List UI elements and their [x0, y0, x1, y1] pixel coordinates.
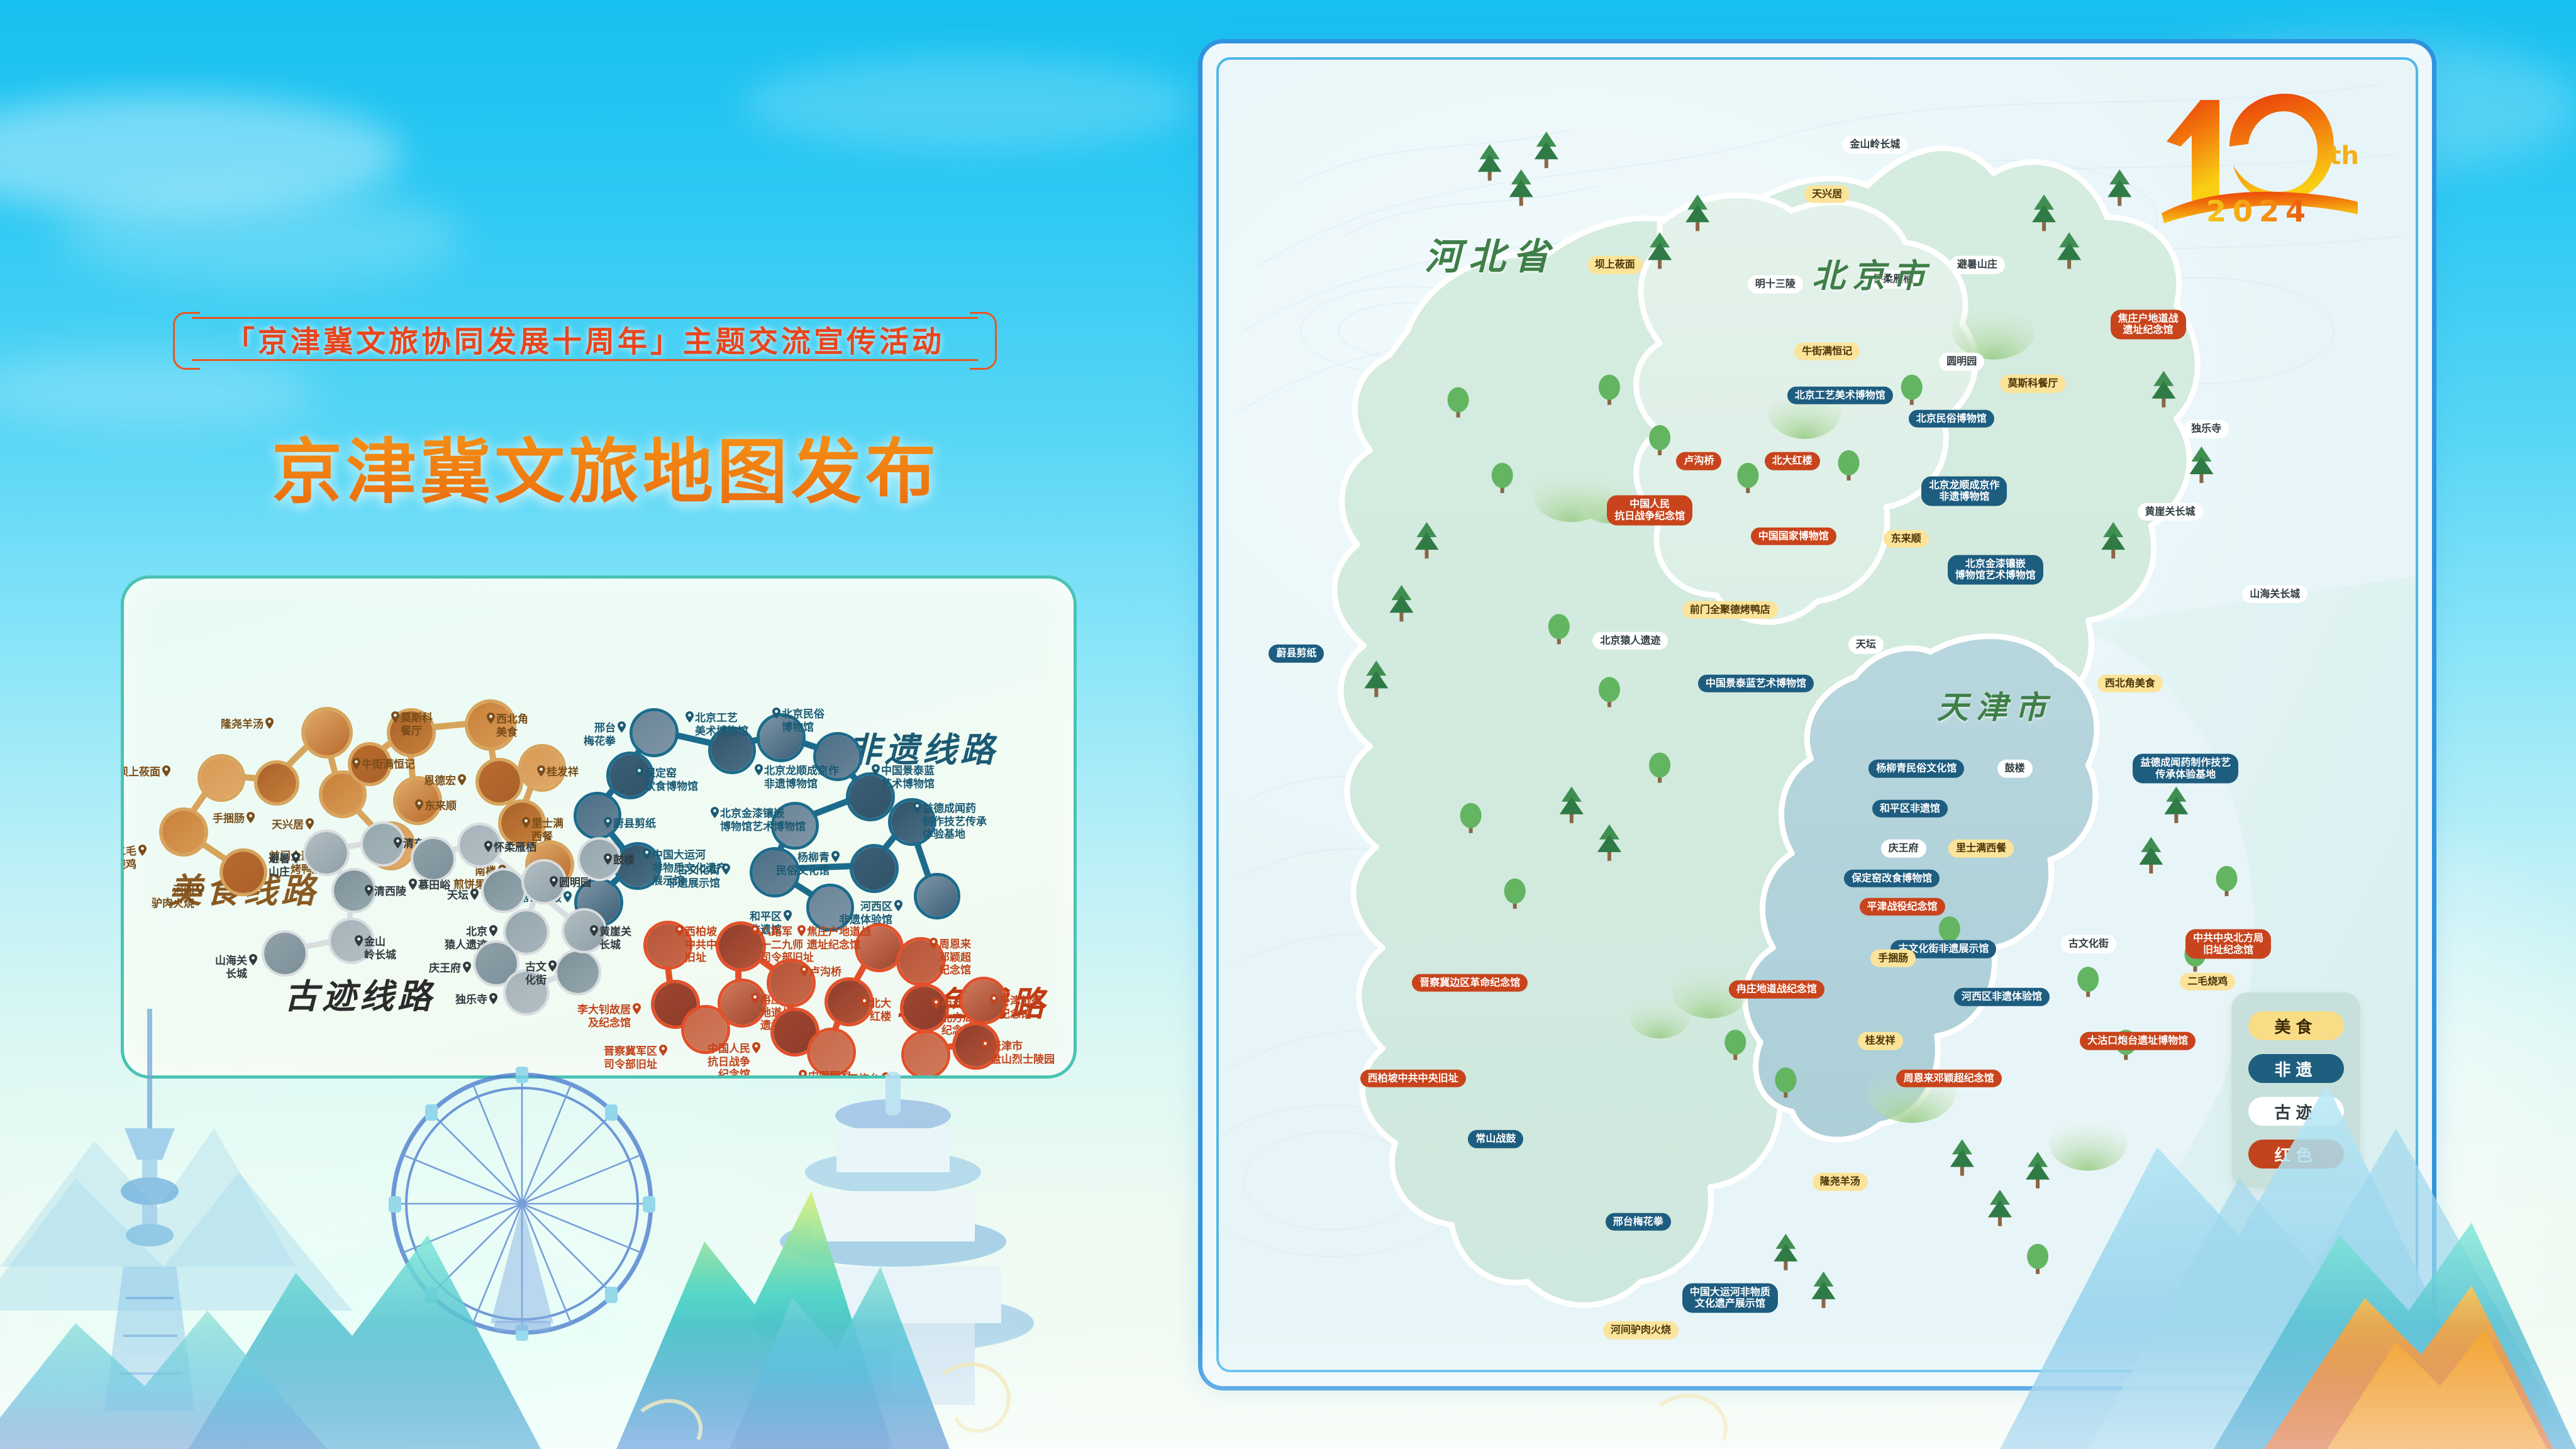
map-poi-label[interactable]: 北大红楼 [1765, 452, 1820, 470]
map-pin-icon [784, 910, 792, 921]
route-node-label: 圆明园 [559, 877, 591, 890]
map-poi-label[interactable]: 中国国家博物馆 [1751, 527, 1836, 545]
round-tree-icon [2216, 866, 2237, 896]
route-node-label: 独乐寺 [455, 994, 487, 1007]
map-poi-label[interactable]: 中国景泰蓝艺术博物馆 [1698, 674, 1814, 692]
map-pin-icon [537, 765, 545, 777]
map-region-name: 河北省 [1424, 227, 1557, 280]
route-node-food[interactable] [219, 848, 267, 896]
map-pin-icon [981, 1040, 989, 1051]
map-poi-label[interactable]: 焦庄户地道战 遗址纪念馆 [2111, 309, 2186, 339]
route-node-label: 邢台 梅花拳 [584, 722, 616, 748]
map-poi-label[interactable]: 大沽口炮台遗址博物馆 [2080, 1032, 2196, 1050]
route-node-red[interactable] [901, 1030, 950, 1079]
map-poi-label[interactable]: 坝上莜面 [1587, 256, 1643, 274]
map-pin-icon [394, 837, 402, 848]
round-tree-icon [2027, 1244, 2048, 1274]
left-content-column: 携手聚力 创新赋能 「京津冀文旅协同发展十周年」主题交流宣传活动 京津冀文旅地图… [0, 0, 1170, 1449]
map-pin-icon [872, 764, 880, 775]
map-card: 金山岭长城坝上莜面避暑山庄天兴居明十三陵怀柔雁栖焦庄户地道战 遗址纪念馆牛街满恒… [1198, 39, 2436, 1391]
route-node-label: 金山 岭长城 [364, 936, 396, 962]
map-poi-label[interactable]: 和平区非遗馆 [1872, 799, 1948, 818]
route-node-label: 北大 红楼 [870, 997, 891, 1023]
map-pin-icon [355, 935, 363, 947]
route-node-label: 北京工艺 美术博物馆 [695, 712, 748, 738]
route-node-label: 周恩来 邓颖超 纪念馆 [939, 938, 971, 977]
route-node-label: 益德成闻药 制作技艺传承 体验基地 [923, 802, 987, 841]
pine-tree-icon [1509, 169, 1533, 206]
route-node-label: 北京金漆镶嵌 博物馆艺术博物馆 [720, 808, 806, 833]
map-poi-label[interactable]: 中国人民 抗日战争纪念馆 [1607, 496, 1692, 525]
route-title-historic: 古迹线路 [284, 969, 435, 1018]
map-poi-label[interactable]: 手捆肠 [1870, 950, 1916, 968]
map-poi-label[interactable]: 蔚县剪纸 [1269, 645, 1324, 663]
route-node-historic[interactable] [481, 868, 526, 913]
route-node-label: 平津战役 纪念馆 [999, 995, 1042, 1021]
map-pin-icon [990, 994, 998, 1006]
map-pin-icon [249, 954, 257, 965]
map-poi-label[interactable]: 晋察冀边区革命纪念馆 [1412, 974, 1528, 992]
map-pin-icon [604, 853, 612, 865]
map-pin-icon [489, 993, 497, 1004]
map-pin-icon [563, 891, 572, 902]
map-pin-icon [415, 799, 423, 811]
route-node-red[interactable] [807, 1028, 856, 1077]
map-poi-label[interactable]: 杨柳青民俗文化馆 [1868, 760, 1964, 778]
route-node-label: 大沽口炮台 遗址博物馆 [826, 1073, 880, 1079]
map-poi-label[interactable]: 前门全聚德烤鸭店 [1682, 601, 1778, 619]
map-canvas[interactable]: 金山岭长城坝上莜面避暑山庄天兴居明十三陵怀柔雁栖焦庄户地道战 遗址纪念馆牛街满恒… [1216, 57, 2418, 1372]
map-region-name: 北京市 [1812, 249, 1933, 296]
map-pin-icon [247, 812, 255, 823]
map-pin-icon [722, 863, 730, 875]
pine-tree-icon [1811, 1272, 1835, 1308]
map-pin-icon [913, 802, 921, 813]
map-pin-icon [458, 774, 466, 786]
map-pin-icon [686, 711, 694, 723]
route-node-label: 鼓楼 [613, 854, 635, 867]
pine-tree-icon [1774, 1234, 1797, 1270]
map-pin-icon [265, 718, 274, 729]
route-node-label: 慕田峪 [418, 879, 450, 892]
pine-tree-icon [1535, 131, 1558, 168]
map-poi-label[interactable]: 里士满西餐 [1948, 840, 2014, 858]
map-pin-icon [659, 1045, 667, 1056]
event-subtitle: 「京津冀文旅协同发展十周年」主题交流宣传活动 [173, 318, 997, 361]
map-pin-icon [487, 713, 495, 724]
route-node-label: 杨柳青 民俗文化馆 [776, 852, 830, 877]
map-poi-label[interactable]: 隆尧羊汤 [1813, 1173, 1868, 1191]
map-pin-icon [306, 818, 314, 830]
legend-item-红色[interactable]: 红色 [2248, 1140, 2344, 1169]
section-heading: 京津冀文旅地图发布 [272, 415, 963, 517]
map-pin-icon [484, 841, 492, 852]
map-poi-label[interactable]: 益德成闻药制作技艺 传承体验基地 [2133, 753, 2238, 783]
map-pin-icon [489, 925, 497, 936]
route-node-label: 庆王府 [429, 962, 461, 975]
map-pin-icon [675, 925, 684, 936]
route-node-label: 焦庄户地道战 遗址纪念馆 [807, 926, 871, 952]
route-node-intangible_heritage[interactable] [914, 873, 960, 919]
pine-tree-icon [2139, 837, 2163, 874]
route-node-label: 恩德宏 [424, 775, 456, 788]
map-pin-icon [751, 925, 759, 936]
route-node-food[interactable] [159, 808, 208, 857]
route-node-label: 中国人民 抗日战争 纪念馆 [708, 1043, 750, 1079]
map-poi-label[interactable]: 平津战役纪念馆 [1860, 897, 1945, 916]
map-poi-label[interactable]: 山海关长城 [2242, 586, 2307, 604]
route-node-label: 天坛 [447, 889, 469, 902]
route-node-label: 坝上莜面 [121, 766, 160, 779]
map-poi-label[interactable]: 保定窑改食博物馆 [1844, 869, 1940, 887]
route-node-food[interactable] [197, 754, 245, 802]
map-poi-label[interactable]: 卢沟桥 [1676, 452, 1721, 470]
map-poi-label[interactable]: 天兴居 [1804, 185, 1850, 203]
route-node-label: 避暑 山庄 [269, 853, 290, 879]
map-poi-label[interactable]: 金山岭长城 [1842, 136, 1907, 154]
route-node-label: 桂发祥 [547, 766, 579, 779]
map-pin-icon [604, 817, 612, 828]
route-node-red[interactable] [718, 979, 767, 1028]
map-pin-icon [882, 1072, 890, 1079]
anniversary-year: 2024 [2206, 194, 2312, 228]
map-pin-icon [409, 879, 417, 890]
map-poi-label[interactable]: 周恩来邓颖超纪念馆 [1896, 1069, 2002, 1087]
map-poi-label[interactable]: 河间驴肉火烧 [1603, 1321, 1679, 1340]
map-pin-icon [635, 767, 643, 778]
map-poi-label[interactable]: 牛街满恒记 [1794, 343, 1860, 361]
route-node-food[interactable] [475, 758, 523, 806]
route-node-label: 李大钊故居 及纪念馆 [577, 1004, 631, 1030]
route-node-label: 东来顺 [425, 800, 457, 813]
map-poi-label[interactable]: 二毛烧鸡 [2180, 972, 2235, 991]
route-node-label: 怀柔雁栖 [494, 841, 536, 855]
map-poi-label[interactable]: 避暑山庄 [1950, 256, 2005, 274]
route-node-label: 黄崖关 长城 [599, 926, 631, 952]
map-poi-label[interactable]: 北京猿人遗迹 [1592, 632, 1668, 650]
anniversary-ordinal: th [2329, 142, 2359, 170]
route-node-label: 莫斯科 餐厅 [401, 712, 433, 738]
route-node-historic[interactable] [555, 949, 601, 996]
map-pin-icon [930, 938, 938, 949]
map-pin-icon [831, 851, 840, 862]
map-poi-label[interactable]: 桂发祥 [1858, 1032, 1903, 1050]
legend-item-美食[interactable]: 美食 [2248, 1011, 2344, 1040]
map-pin-icon [755, 764, 763, 775]
legend-item-古迹[interactable]: 古迹 [2248, 1097, 2344, 1126]
map-poi-label[interactable]: 河西区非遗体验馆 [1954, 988, 2050, 1006]
route-node-label: 牛街满恒记 [362, 758, 415, 772]
map-pin-icon [633, 1003, 641, 1014]
route-node-label: 古文化街 非遗展示馆 [667, 864, 720, 890]
map-pin-icon [470, 889, 479, 900]
map-pin-icon [138, 845, 147, 856]
route-node-label: 西北角 美食 [496, 713, 528, 739]
route-node-intangible_heritage[interactable] [574, 792, 621, 840]
pine-tree-icon [2164, 787, 2188, 823]
map-poi-label[interactable]: 明十三陵 [1748, 275, 1803, 294]
route-node-label: 河间 驴肉火烧 [152, 884, 194, 910]
map-pin-icon [352, 758, 360, 769]
pine-tree-icon [2026, 1152, 2050, 1189]
map-pin-icon [590, 925, 598, 936]
map-pin-icon [548, 960, 557, 972]
map-pin-icon [292, 852, 300, 863]
map-poi-label[interactable]: 庆王府 [1881, 840, 1926, 858]
map-poi-label[interactable]: 北京金漆镶嵌 博物馆艺术博物馆 [1948, 555, 2043, 584]
route-node-label: 中国景泰蓝 艺术博物馆 [881, 765, 935, 791]
map-pin-icon [772, 708, 780, 719]
route-node-label: 古文 化街 [525, 961, 547, 987]
route-node-intangible_heritage[interactable] [630, 708, 679, 757]
pine-tree-icon [2107, 169, 2131, 206]
map-poi-label[interactable]: 西北角美食 [2097, 674, 2163, 692]
subtitle-band: 「京津冀文旅协同发展十周年」主题交流宣传活动 [173, 312, 997, 366]
map-pin-icon [463, 962, 471, 973]
pine-tree-icon [1478, 144, 1502, 180]
pine-tree-icon [1950, 1139, 1974, 1175]
anniversary-logo: th 2024 [2155, 81, 2363, 238]
map-poi-label[interactable]: 东来顺 [1884, 530, 1929, 548]
map-poi-label[interactable]: 中共中央北方局 旧址纪念馆 [2185, 930, 2271, 959]
route-node-label: 山海关 长城 [215, 955, 247, 980]
map-poi-label[interactable]: 圆明园 [1939, 353, 1984, 371]
map-poi-label[interactable]: 莫斯科餐厅 [2000, 375, 2065, 393]
route-node-historic[interactable] [262, 930, 308, 977]
map-poi-label[interactable]: 北京龙顺成京作 非遗博物馆 [1921, 476, 2007, 506]
route-node-red[interactable] [896, 937, 945, 986]
route-node-historic[interactable] [303, 830, 350, 876]
route-node-label: 隆尧羊汤 [221, 718, 264, 731]
route-node-historic[interactable] [411, 836, 456, 882]
pine-tree-icon [2189, 447, 2213, 483]
map-pin-icon [932, 998, 940, 1009]
route-node-label: 北京龙顺成京作 非遗博物馆 [764, 765, 839, 791]
map-pin-icon [711, 807, 719, 818]
route-node-label: 北京民俗 博物馆 [782, 708, 824, 734]
map-pin-icon [618, 721, 626, 733]
map-pin-icon [751, 993, 759, 1004]
map-pin-icon [894, 900, 902, 911]
route-node-label: 晋察冀军区 司令部旧址 [604, 1045, 657, 1071]
map-poi-label[interactable]: 常山战鼓 [1468, 1130, 1523, 1148]
route-node-label: 保定窑 饮食博物馆 [645, 767, 698, 793]
route-node-label: 清西陵 [374, 885, 406, 899]
route-node-label: 卢沟桥 [809, 966, 841, 979]
legend-item-非遗[interactable]: 非遗 [2248, 1054, 2344, 1083]
route-diagram-panel: 美食线路 非遗线路 古迹线路 红色线路 二毛 烧鸡河间 驴肉火烧坝上莜面手捆肠隆… [121, 575, 1077, 1079]
round-tree-icon [2077, 967, 2099, 997]
map-pin-icon [797, 925, 806, 936]
route-node-food[interactable] [254, 760, 299, 806]
map-poi-label[interactable]: 北京工艺美术博物馆 [1787, 386, 1893, 404]
route-node-label: 二毛 烧鸡 [121, 845, 136, 871]
map-poi-label[interactable]: 邢台梅花拳 [1606, 1213, 1671, 1231]
map-legend: 美食非遗古迹红色 [2231, 992, 2360, 1187]
route-node-label: 天津市 盘山烈士陵园 [991, 1040, 1055, 1066]
route-node-food[interactable] [301, 707, 353, 758]
map-poi-label[interactable]: 天坛 [1848, 636, 1884, 654]
map-region-name: 天津市 [1937, 682, 2054, 728]
map-poi-label[interactable]: 古文化街 [2061, 935, 2116, 953]
map-poi-label[interactable]: 鼓楼 [1997, 760, 2033, 778]
pine-tree-icon [1988, 1190, 2012, 1226]
map-pin-icon [643, 848, 651, 860]
map-pin-icon [365, 885, 373, 896]
map-pin-icon [550, 876, 558, 887]
map-poi-label[interactable]: 黄崖关长城 [2138, 502, 2203, 521]
route-node-label: 天兴居 [272, 819, 304, 832]
map-pin-icon [799, 1070, 807, 1079]
map-pin-icon [800, 965, 808, 977]
map-poi-label[interactable]: 西柏坡中共中央旧址 [1360, 1069, 1466, 1087]
route-node-red[interactable] [767, 958, 816, 1008]
map-pin-icon [196, 884, 204, 895]
route-node-label: 蔚县剪纸 [613, 818, 656, 831]
map-pin-icon [391, 711, 399, 723]
route-node-label: 手捆肠 [213, 813, 245, 826]
route-node-label: 河西区 非遗体验馆 [839, 901, 892, 926]
map-pin-icon [162, 765, 170, 777]
map-poi-label[interactable]: 独乐寺 [2184, 420, 2229, 438]
map-poi-label[interactable]: 北京民俗博物馆 [1909, 409, 1994, 428]
map-pin-icon [860, 997, 869, 1008]
route-node-intangible_heritage[interactable] [850, 844, 899, 893]
map-poi-label[interactable]: 中国大运河非物质 文化遗产展示馆 [1682, 1283, 1778, 1313]
map-pin-icon [522, 817, 530, 828]
map-pin-icon [752, 1042, 760, 1053]
map-poi-label[interactable]: 冉庄地道战纪念馆 [1729, 980, 1824, 999]
